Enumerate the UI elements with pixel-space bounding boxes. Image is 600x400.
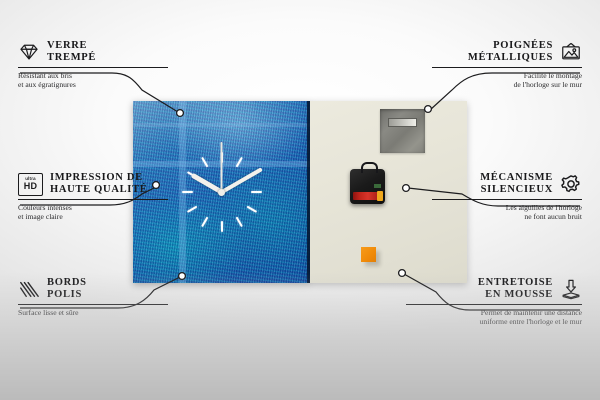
callout-title-line2: MÉTALLIQUES bbox=[468, 52, 553, 64]
battery-plus-terminal bbox=[377, 191, 383, 201]
callout-title-line2: HAUTE QUALITÉ bbox=[50, 184, 148, 196]
ultra-hd-icon: ultra HD bbox=[18, 173, 43, 196]
ultra-hd-icon-bottom: HD bbox=[24, 182, 37, 191]
mechanism-chip bbox=[374, 184, 381, 188]
callout-desc-line1: Facilite le montage bbox=[432, 71, 582, 80]
callout-desc-line1: Couleurs intenses bbox=[18, 203, 168, 212]
callout-desc-line1: Résistant aux bris bbox=[18, 71, 168, 80]
callout-title-line2: EN MOUSSE bbox=[478, 289, 553, 301]
callout-title-line1: POIGNÉES bbox=[468, 40, 553, 52]
mechanism-hook bbox=[361, 162, 378, 173]
callout-title-line2: SILENCIEUX bbox=[480, 184, 553, 196]
hanger-slot bbox=[388, 118, 417, 127]
diagonal-lines-icon bbox=[18, 278, 40, 300]
callout-desc-line2: ne font aucun bruit bbox=[432, 212, 582, 221]
diamond-icon bbox=[18, 41, 40, 63]
picture-frame-hanger-icon bbox=[560, 41, 582, 63]
callout-bords-polis: BORDS POLIS Surface lisse et sûre bbox=[18, 277, 168, 317]
callout-desc-line2: de l'horloge sur le mur bbox=[432, 80, 582, 89]
callout-title-line1: VERRE bbox=[47, 40, 96, 52]
callout-desc-line1: Les aiguilles de l'horloge bbox=[432, 203, 582, 212]
callout-impression-haute-qualite: ultra HD IMPRESSION DE HAUTE QUALITÉ Cou… bbox=[18, 172, 168, 222]
callout-rule bbox=[18, 67, 168, 68]
callout-title-line1: BORDS bbox=[47, 277, 87, 289]
second-hand bbox=[221, 142, 223, 190]
callout-rule bbox=[432, 199, 582, 200]
hanger-plate bbox=[380, 109, 425, 153]
callout-desc-line2: et image claire bbox=[18, 212, 168, 221]
battery bbox=[353, 192, 380, 200]
callout-rule bbox=[18, 199, 168, 200]
callout-entretoise-en-mousse: ENTRETOISE EN MOUSSE Permet de maintenir… bbox=[406, 277, 582, 327]
callout-rule bbox=[18, 304, 168, 305]
callout-mecanisme-silencieux: MÉCANISME SILENCIEUX Les aiguilles de l'… bbox=[432, 172, 582, 222]
callout-rule bbox=[432, 67, 582, 68]
callout-rule bbox=[406, 304, 582, 305]
product-image bbox=[133, 101, 467, 283]
foam-spacer bbox=[361, 247, 376, 262]
callout-verre-trempe: VERRE TREMPÉ Résistant aux bris et aux é… bbox=[18, 40, 168, 90]
gear-icon bbox=[560, 173, 582, 195]
down-arrow-pad-icon bbox=[560, 278, 582, 300]
callout-desc-line1: Permet de maintenir une distance bbox=[406, 308, 582, 317]
callout-title-line1: IMPRESSION DE bbox=[50, 172, 148, 184]
callout-desc-line2: et aux égratignures bbox=[18, 80, 168, 89]
callout-desc-line1: Surface lisse et sûre bbox=[18, 308, 168, 317]
callout-poignees-metalliques: POIGNÉES MÉTALLIQUES Facilite le montage… bbox=[432, 40, 582, 90]
clock-mechanism bbox=[350, 169, 385, 204]
callout-desc-line2: uniforme entre l'horloge et le mur bbox=[406, 317, 582, 326]
callout-title-line2: TREMPÉ bbox=[47, 52, 96, 64]
callout-title-line2: POLIS bbox=[47, 289, 87, 301]
callout-title-line1: MÉCANISME bbox=[480, 172, 553, 184]
callout-title-line1: ENTRETOISE bbox=[478, 277, 553, 289]
hands-center-cap bbox=[218, 189, 225, 196]
infographic-canvas: VERRE TREMPÉ Résistant aux bris et aux é… bbox=[0, 0, 600, 400]
